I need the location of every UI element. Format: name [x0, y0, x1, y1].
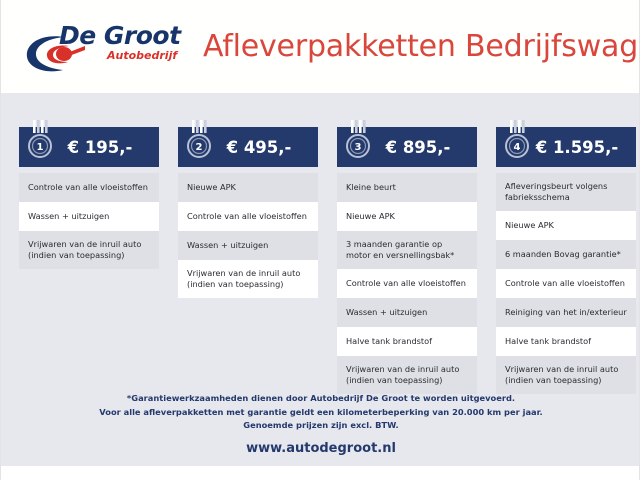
website-link[interactable]: www.autodegroot.nl	[1, 441, 640, 456]
package-card-1: 1 € 195,- Controle van alle vloeistoffen…	[19, 127, 159, 269]
package-header-2: 2 € 495,-	[178, 127, 318, 167]
medal-4-icon: 4	[502, 119, 532, 163]
list-item: Controle van alle vloeistoffen	[19, 173, 159, 202]
footnote-line-1: *Garantiewerkzaamheden dienen door Autob…	[1, 392, 640, 406]
logo-primary-text: De Groot	[59, 21, 181, 50]
footer-white-strip	[1, 466, 640, 480]
list-item: Controle van alle vloeistoffen	[178, 202, 318, 231]
medal-rank-2: 2	[196, 142, 203, 153]
company-logo: De Groot Autobedrijf	[23, 16, 188, 78]
page-title: Afleverpakketten Bedrijfswagens	[203, 29, 640, 64]
package-items-1: Controle van alle vloeistoffen Wassen + …	[19, 173, 159, 269]
page-header: De Groot Autobedrijf Afleverpakketten Be…	[1, 0, 640, 93]
list-item: Halve tank brandstof	[496, 327, 636, 356]
medal-3-icon: 3	[343, 119, 373, 163]
list-item: Vrijwaren van de inruil auto (indien van…	[337, 356, 477, 394]
package-card-4: 4 € 1.595,- Afleveringsbeurt volgens fab…	[496, 127, 636, 394]
list-item: Wassen + uitzuigen	[337, 298, 477, 327]
package-card-3: 3 € 895,- Kleine beurt Nieuwe APK 3 maan…	[337, 127, 477, 394]
list-item: Nieuwe APK	[178, 173, 318, 202]
list-item: Nieuwe APK	[496, 211, 636, 240]
footnote-line-2: Voor alle afleverpakketten met garantie …	[1, 406, 640, 420]
list-item: Vrijwaren van de inruil auto (indien van…	[19, 231, 159, 269]
list-item: Afleveringsbeurt volgens fabrieksschema	[496, 173, 636, 211]
package-items-4: Afleveringsbeurt volgens fabrieksschema …	[496, 173, 636, 394]
package-items-3: Kleine beurt Nieuwe APK 3 maanden garant…	[337, 173, 477, 394]
list-item: Reiniging van het in/exterieur	[496, 298, 636, 327]
package-price-3: € 895,-	[386, 138, 451, 157]
package-price-1: € 195,-	[68, 138, 133, 157]
poster-page: De Groot Autobedrijf Afleverpakketten Be…	[0, 0, 640, 480]
list-item: Vrijwaren van de inruil auto (indien van…	[496, 356, 636, 394]
package-header-4: 4 € 1.595,-	[496, 127, 636, 167]
package-price-2: € 495,-	[227, 138, 292, 157]
list-item: Halve tank brandstof	[337, 327, 477, 356]
list-item: Controle van alle vloeistoffen	[337, 269, 477, 298]
list-item: 3 maanden garantie op motor en versnelli…	[337, 231, 477, 269]
package-header-1: 1 € 195,-	[19, 127, 159, 167]
medal-rank-4: 4	[514, 142, 521, 153]
list-item: Vrijwaren van de inruil auto (indien van…	[178, 260, 318, 298]
list-item: Wassen + uitzuigen	[19, 202, 159, 231]
list-item: Controle van alle vloeistoffen	[496, 269, 636, 298]
medal-2-icon: 2	[184, 119, 214, 163]
footnote-line-3: Genoemde prijzen zijn excl. BTW.	[1, 419, 640, 433]
logo-secondary-text: Autobedrijf	[107, 49, 177, 62]
medal-rank-3: 3	[355, 142, 362, 153]
package-price-4: € 1.595,-	[536, 138, 619, 157]
footnotes: *Garantiewerkzaamheden dienen door Autob…	[1, 392, 640, 433]
package-header-3: 3 € 895,-	[337, 127, 477, 167]
medal-1-icon: 1	[25, 119, 55, 163]
list-item: Nieuwe APK	[337, 202, 477, 231]
list-item: 6 maanden Bovag garantie*	[496, 240, 636, 269]
package-card-2: 2 € 495,- Nieuwe APK Controle van alle v…	[178, 127, 318, 298]
medal-rank-1: 1	[37, 142, 44, 153]
package-columns: 1 € 195,- Controle van alle vloeistoffen…	[19, 127, 623, 394]
list-item: Wassen + uitzuigen	[178, 231, 318, 260]
list-item: Kleine beurt	[337, 173, 477, 202]
package-items-2: Nieuwe APK Controle van alle vloeistoffe…	[178, 173, 318, 298]
